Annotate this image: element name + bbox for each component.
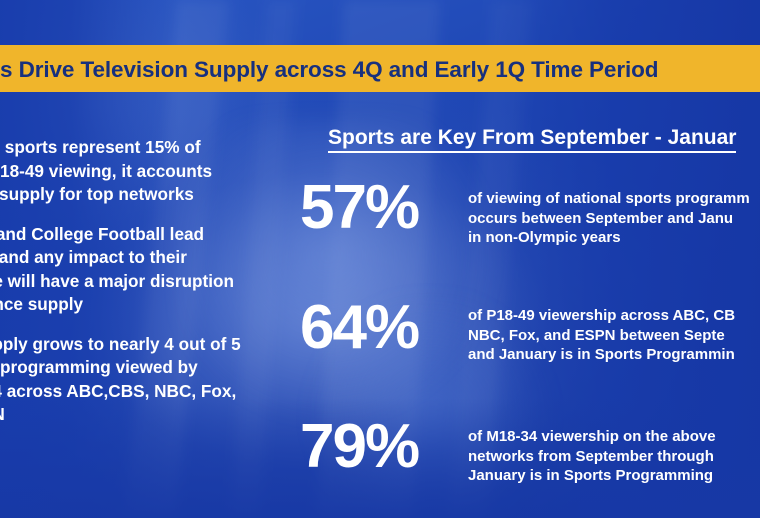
- slide-canvas: s Drive Television Supply across 4Q and …: [0, 0, 760, 518]
- stat-value: 79%: [300, 415, 468, 479]
- stat-value: 57%: [300, 176, 468, 240]
- stat-row: 64% of P18-49 viewership across ABC, CB …: [300, 296, 760, 365]
- stat-row: 57% of viewing of national sports progra…: [300, 176, 760, 248]
- stat-description: of P18-49 viewership across ABC, CB NBC,…: [468, 296, 760, 365]
- stat-description: of viewing of national sports programm o…: [468, 176, 760, 248]
- bullet-item: ough sports represent 15% of rall P18-49…: [0, 136, 260, 207]
- bullet-item: NFL and College Football lead way, and a…: [0, 223, 260, 317]
- right-section-heading: Sports are Key From September - Januar: [328, 126, 760, 150]
- stat-row: 79% of M18-34 viewership on the above ne…: [300, 415, 760, 486]
- bullet-item: s supply grows to nearly 4 out of 5 rs o…: [0, 333, 260, 427]
- slide-title: s Drive Television Supply across 4Q and …: [0, 54, 760, 86]
- right-section-heading-text: Sports are Key From September - Januar: [328, 126, 736, 153]
- stat-value: 64%: [300, 296, 468, 360]
- stat-description: of M18-34 viewership on the above networ…: [468, 415, 760, 486]
- bullet-list: ough sports represent 15% of rall P18-49…: [0, 136, 260, 443]
